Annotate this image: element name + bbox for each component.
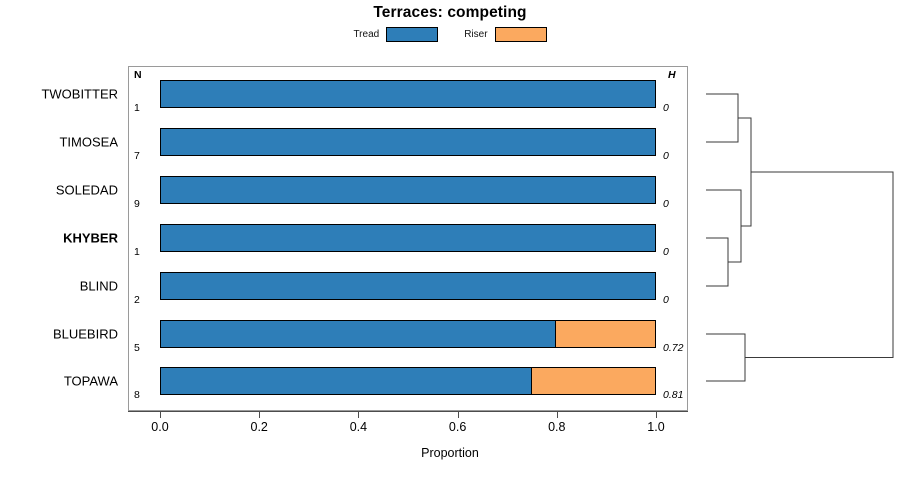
legend-label-riser: Riser xyxy=(464,29,487,40)
bar-panel xyxy=(128,66,688,411)
chart-title: Terraces: competing xyxy=(0,4,900,22)
legend-entry-riser: Riser xyxy=(464,27,546,42)
row-label-topawa: TOPAWA xyxy=(64,374,118,389)
row-label-blind: BLIND xyxy=(80,279,118,294)
dendrogram xyxy=(690,60,900,420)
chart-root: Terraces: competing Tread Riser TWOBITTE… xyxy=(0,0,900,480)
legend-entry-tread: Tread xyxy=(353,27,438,42)
x-tick-label-0.2: 0.2 xyxy=(250,420,267,434)
x-tick-label-0.8: 0.8 xyxy=(548,420,565,434)
x-tick-0.0 xyxy=(160,411,161,418)
dendrogram-link xyxy=(706,334,745,381)
legend-swatch-riser xyxy=(495,27,547,42)
x-tick-label-0.6: 0.6 xyxy=(449,420,466,434)
dendrogram-link xyxy=(706,94,738,142)
legend-label-tread: Tread xyxy=(353,29,379,40)
row-label-soledad: SOLEDAD xyxy=(56,183,118,198)
x-axis-line xyxy=(128,411,688,412)
x-tick-0.8 xyxy=(557,411,558,418)
row-label-bluebird: BLUEBIRD xyxy=(53,327,118,342)
x-tick-label-0.0: 0.0 xyxy=(151,420,168,434)
x-tick-0.4 xyxy=(358,411,359,418)
x-tick-1.0 xyxy=(656,411,657,418)
dendrogram-link xyxy=(706,238,728,286)
x-axis-title: Proportion xyxy=(0,446,900,460)
row-label-column: TWOBITTERTIMOSEASOLEDADKHYBERBLINDBLUEBI… xyxy=(0,66,124,411)
x-tick-label-0.4: 0.4 xyxy=(350,420,367,434)
x-tick-label-1.0: 1.0 xyxy=(647,420,664,434)
x-tick-0.2 xyxy=(259,411,260,418)
legend-swatch-tread xyxy=(386,27,438,42)
row-label-timosea: TIMOSEA xyxy=(59,135,118,150)
dendrogram-svg xyxy=(690,60,900,420)
x-tick-0.6 xyxy=(458,411,459,418)
row-label-twobitter: TWOBITTER xyxy=(41,87,118,102)
legend: Tread Riser xyxy=(0,27,900,42)
row-label-khyber: KHYBER xyxy=(63,231,118,246)
dendrogram-link xyxy=(738,118,751,226)
dendrogram-link xyxy=(745,172,893,358)
dendrogram-link xyxy=(706,190,741,262)
